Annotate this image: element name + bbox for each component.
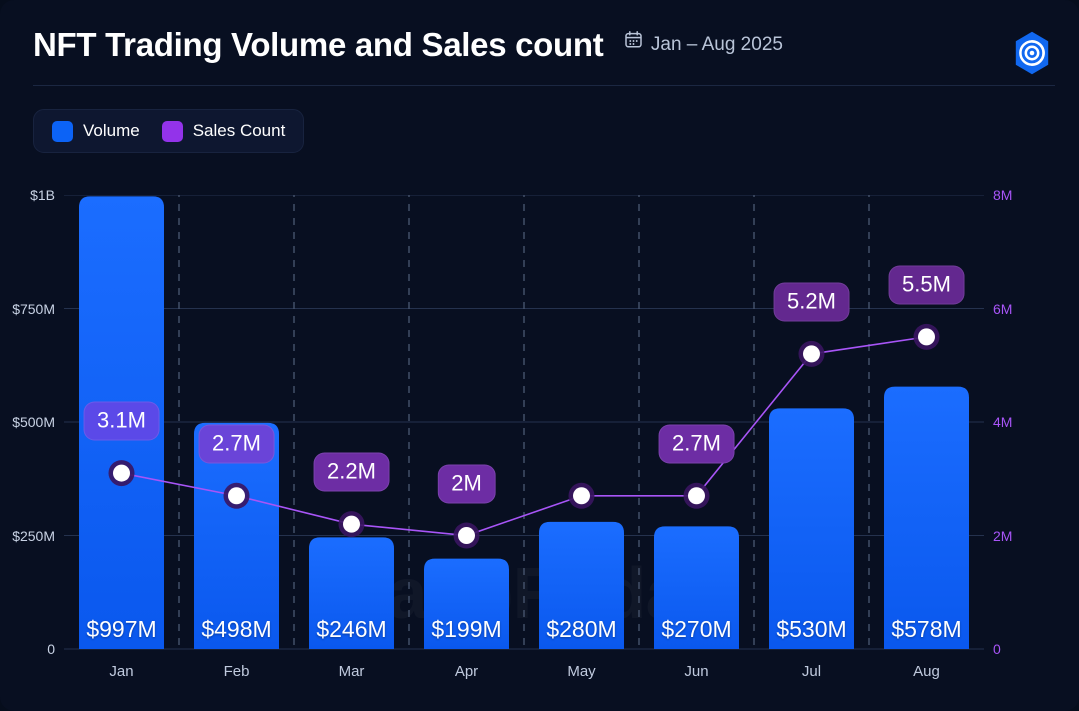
x-axis-tick-jul: Jul bbox=[802, 663, 821, 680]
legend-label-volume: Volume bbox=[83, 121, 140, 141]
y-axis-right-tick: 4M bbox=[993, 414, 1012, 430]
x-axis-tick-jun: Jun bbox=[684, 663, 708, 680]
x-axis-tick-aug: Aug bbox=[913, 663, 940, 680]
chart-svg bbox=[64, 195, 984, 650]
date-range: Jan – Aug 2025 bbox=[624, 16, 783, 74]
date-range-label: Jan – Aug 2025 bbox=[651, 16, 783, 74]
bar-value-label: $270M bbox=[661, 616, 731, 643]
y-axis-right-tick: 8M bbox=[993, 187, 1012, 203]
bar-value-label: $530M bbox=[776, 616, 846, 643]
x-axis-tick-jan: Jan bbox=[109, 663, 133, 680]
page-title: NFT Trading Volume and Sales count bbox=[33, 16, 603, 74]
bar-value-label: $578M bbox=[891, 616, 961, 643]
y-axis-right-tick: 2M bbox=[993, 528, 1012, 544]
y-axis-left-tick: $500M bbox=[12, 414, 55, 430]
y-axis-right-tick: 0 bbox=[993, 641, 1001, 657]
legend-item-volume[interactable]: Volume bbox=[52, 121, 140, 142]
legend-swatch-sales-count bbox=[162, 121, 183, 142]
x-axis-tick-feb: Feb bbox=[224, 663, 250, 680]
x-axis-tick-may: May bbox=[567, 663, 595, 680]
legend-item-sales-count[interactable]: Sales Count bbox=[162, 121, 286, 142]
bar-value-label: $199M bbox=[431, 616, 501, 643]
y-axis-left-tick: $1B bbox=[30, 187, 55, 203]
x-axis-tick-apr: Apr bbox=[455, 663, 478, 680]
bar-value-label: $246M bbox=[316, 616, 386, 643]
x-axis-tick-mar: Mar bbox=[339, 663, 365, 680]
legend-swatch-volume bbox=[52, 121, 73, 142]
point-value-badge: 2M bbox=[437, 464, 496, 503]
chart-plot-area: DappRadar 0$250M$500M$750M$1B 02M4M6M8M … bbox=[64, 195, 984, 650]
chart-legend: Volume Sales Count bbox=[33, 109, 304, 153]
y-axis-left-tick: $750M bbox=[12, 301, 55, 317]
bar-value-label: $997M bbox=[86, 616, 156, 643]
chart-card: NFT Trading Volume and Sales count Jan –… bbox=[0, 0, 1079, 711]
point-value-badge: 5.5M bbox=[888, 265, 965, 304]
point-value-badge: 2.7M bbox=[658, 424, 735, 463]
bar-value-label: $498M bbox=[201, 616, 271, 643]
point-value-badge: 2.2M bbox=[313, 453, 390, 492]
chart-header: NFT Trading Volume and Sales count Jan –… bbox=[33, 16, 1055, 78]
dappradar-logo-icon bbox=[1009, 30, 1055, 76]
point-value-badge: 3.1M bbox=[83, 402, 160, 441]
y-axis-left-tick: 0 bbox=[47, 641, 55, 657]
calendar-icon bbox=[624, 16, 643, 74]
legend-label-sales-count: Sales Count bbox=[193, 121, 286, 141]
bar-value-label: $280M bbox=[546, 616, 616, 643]
y-axis-left-tick: $250M bbox=[12, 528, 55, 544]
point-value-badge: 5.2M bbox=[773, 282, 850, 321]
header-divider bbox=[33, 85, 1055, 86]
y-axis-right-tick: 6M bbox=[993, 301, 1012, 317]
point-value-badge: 2.7M bbox=[198, 424, 275, 463]
